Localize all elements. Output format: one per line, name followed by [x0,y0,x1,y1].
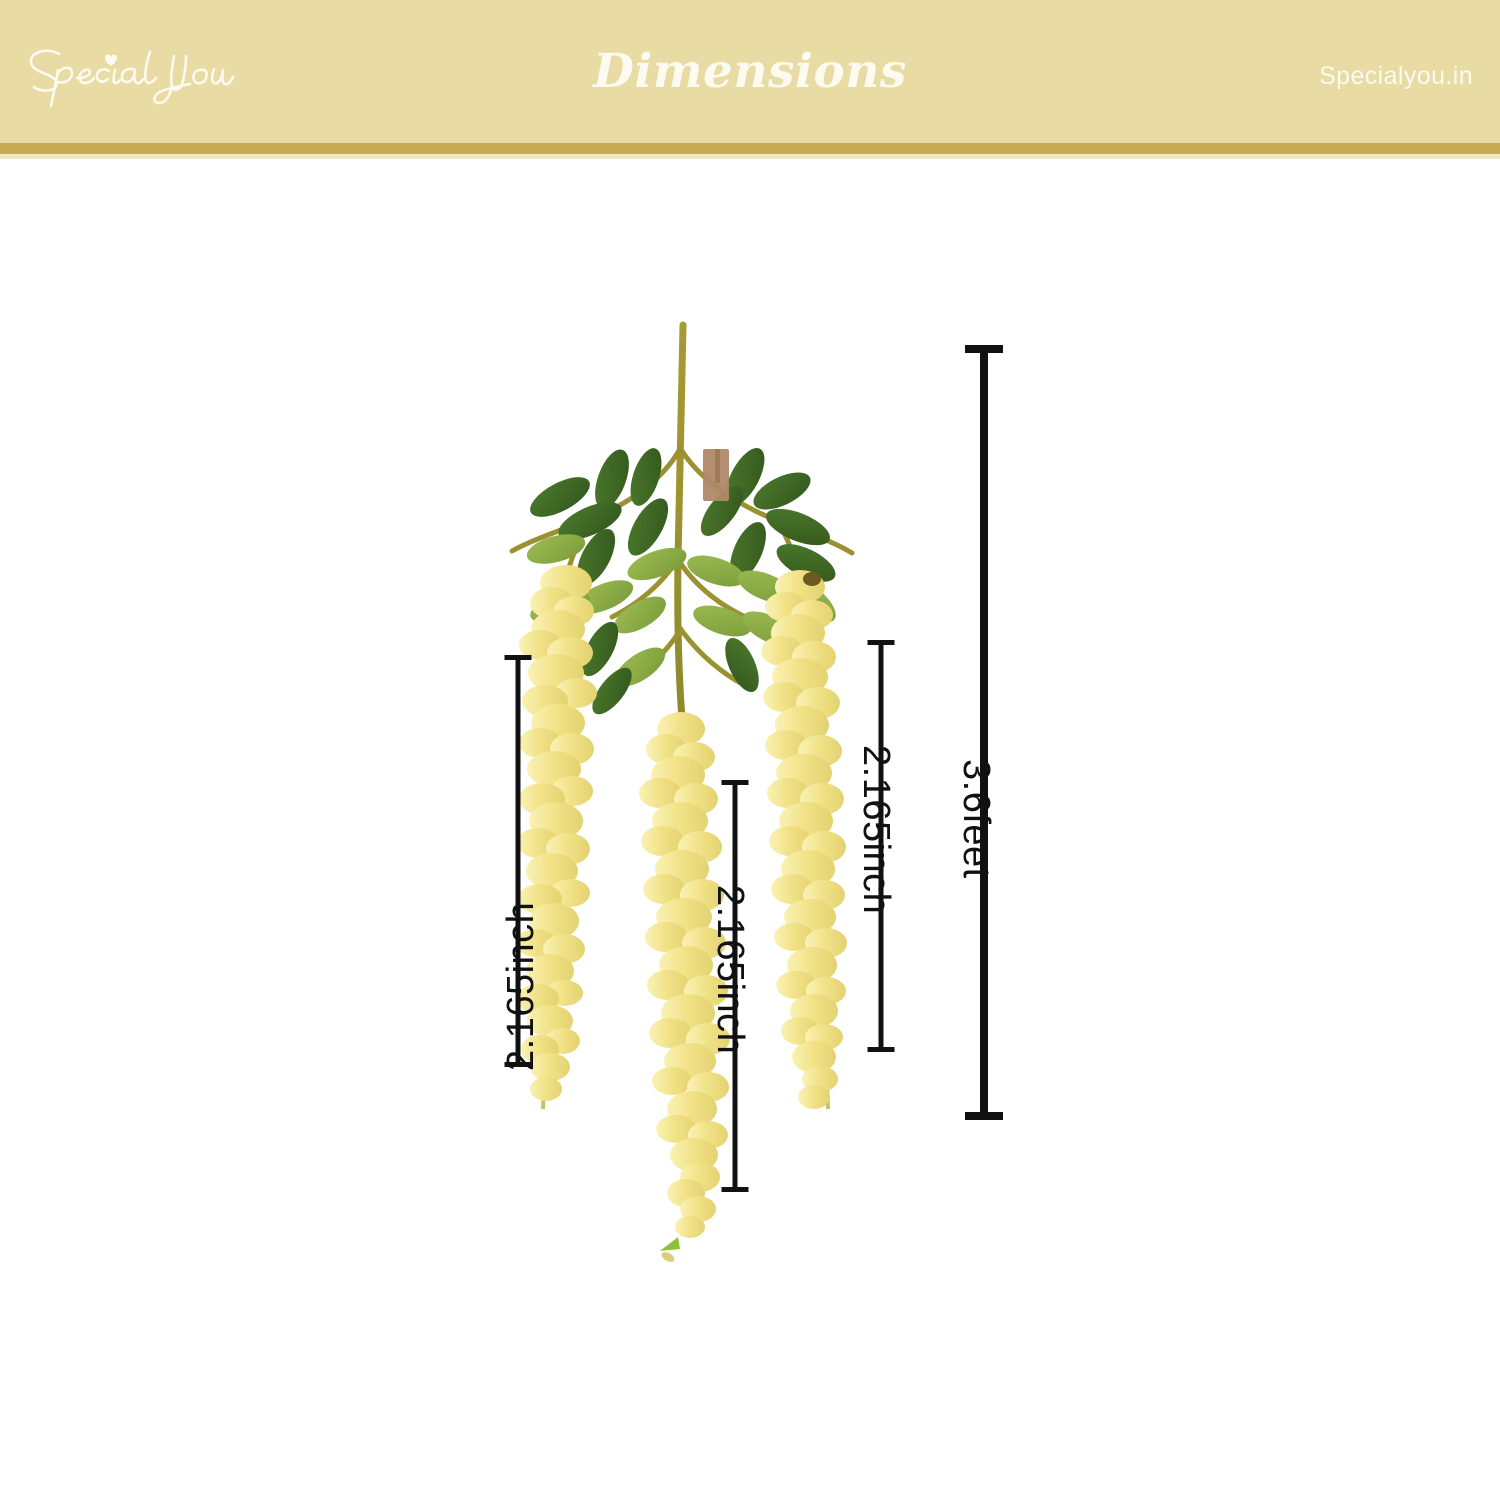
product-hang-tag [703,449,729,501]
flower-tip-leaf [660,1237,680,1264]
header-accent-stripe [0,143,1500,154]
product-canvas: 2.165inch 2.165inch 2.165inch 3.6feet [0,159,1500,1500]
measure-label-strand-left: 2.165inch [500,902,543,1071]
measure-label-total-length: 3.6feet [954,759,997,879]
page-header: Dimensions Specialyou.in [0,0,1500,143]
flower-strand-right [761,570,847,1109]
page-title: Dimensions [0,44,1500,99]
measure-label-strand-middle: 2.165inch [708,885,751,1054]
measure-cap-bottom [965,1112,1003,1120]
measure-bar [980,345,988,1120]
measure-cap-bottom [867,1047,894,1052]
measure-label-strand-right: 2.165inch [854,745,897,914]
measure-cap-bottom [721,1187,748,1192]
measure-line-total-length [965,345,1003,1120]
product-image-artificial-wisteria-vine [0,159,1500,1500]
website-label: Specialyou.in [1319,62,1473,91]
